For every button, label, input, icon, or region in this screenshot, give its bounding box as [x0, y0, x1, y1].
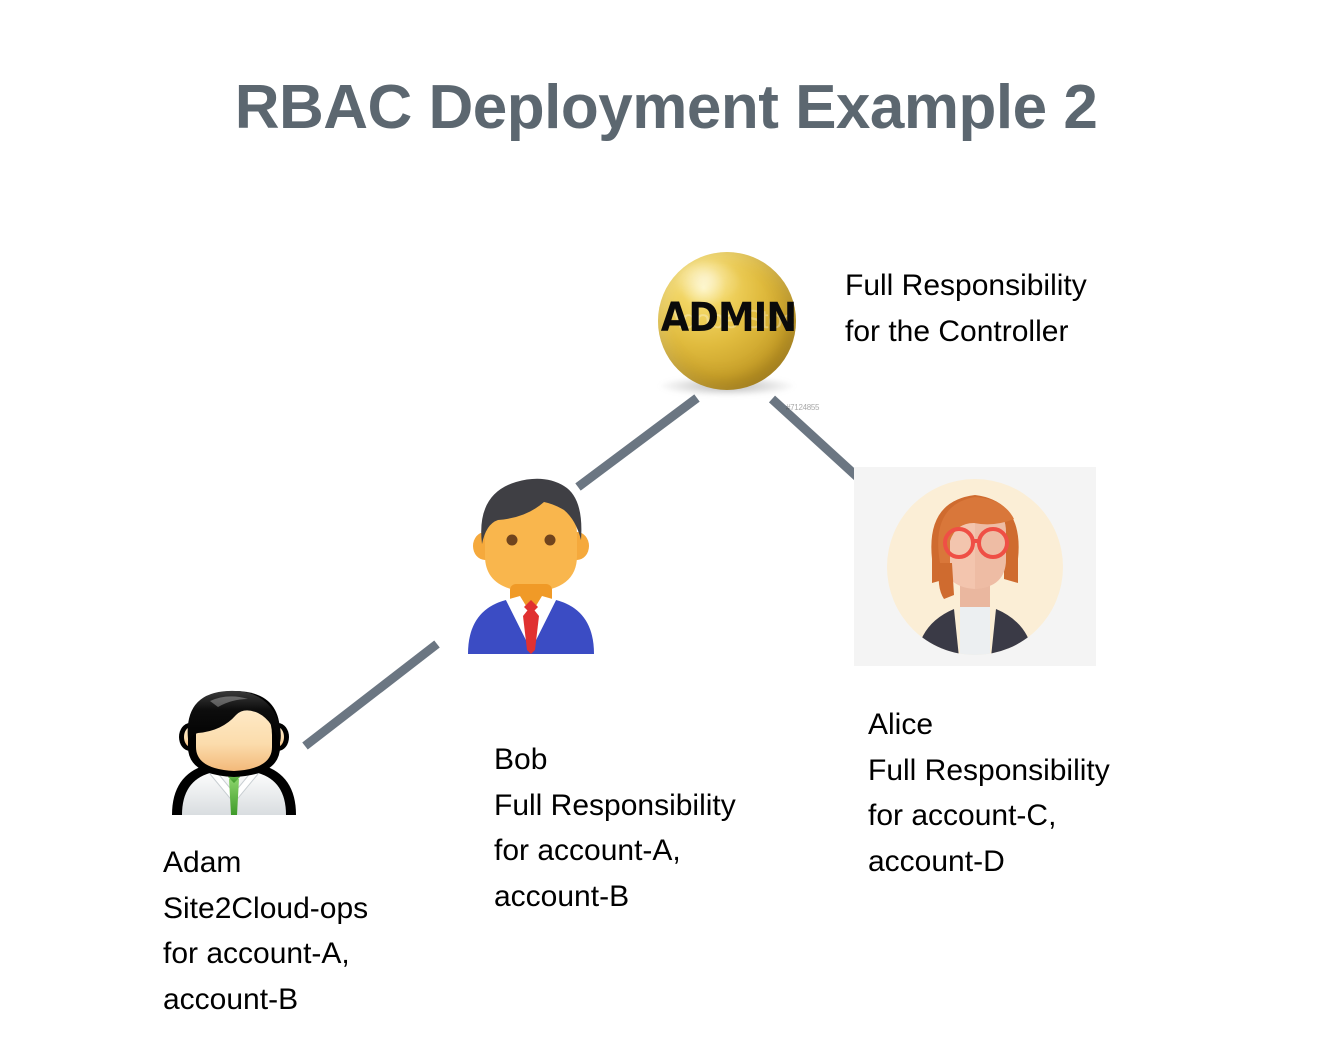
- adam-node[interactable]: [166, 689, 302, 815]
- female-avatar-flat-icon: [854, 467, 1096, 666]
- male-avatar-flat-icon: [460, 474, 602, 654]
- adam-caption: Adam Site2Cloud-ops for account-A, accou…: [163, 840, 368, 1022]
- alice-node[interactable]: [854, 467, 1096, 666]
- page-title: RBAC Deployment Example 2: [0, 72, 1332, 143]
- bob-node[interactable]: [460, 474, 602, 654]
- slide-canvas: RBAC Deployment Example 2 Adobe Stock AD…: [0, 0, 1332, 1064]
- stock-id-label: #7124855: [786, 403, 819, 412]
- admin-label: ADMIN: [661, 295, 793, 341]
- male-avatar-glossy-icon: [166, 689, 302, 815]
- bob-caption: Bob Full Responsibility for account-A, a…: [494, 737, 736, 919]
- edge-bob-adam: [305, 644, 437, 746]
- admin-caption: Full Responsibility for the Controller: [845, 263, 1087, 354]
- admin-node[interactable]: Adobe Stock ADMIN: [655, 250, 799, 394]
- alice-caption: Alice Full Responsibility for account-C,…: [868, 702, 1110, 884]
